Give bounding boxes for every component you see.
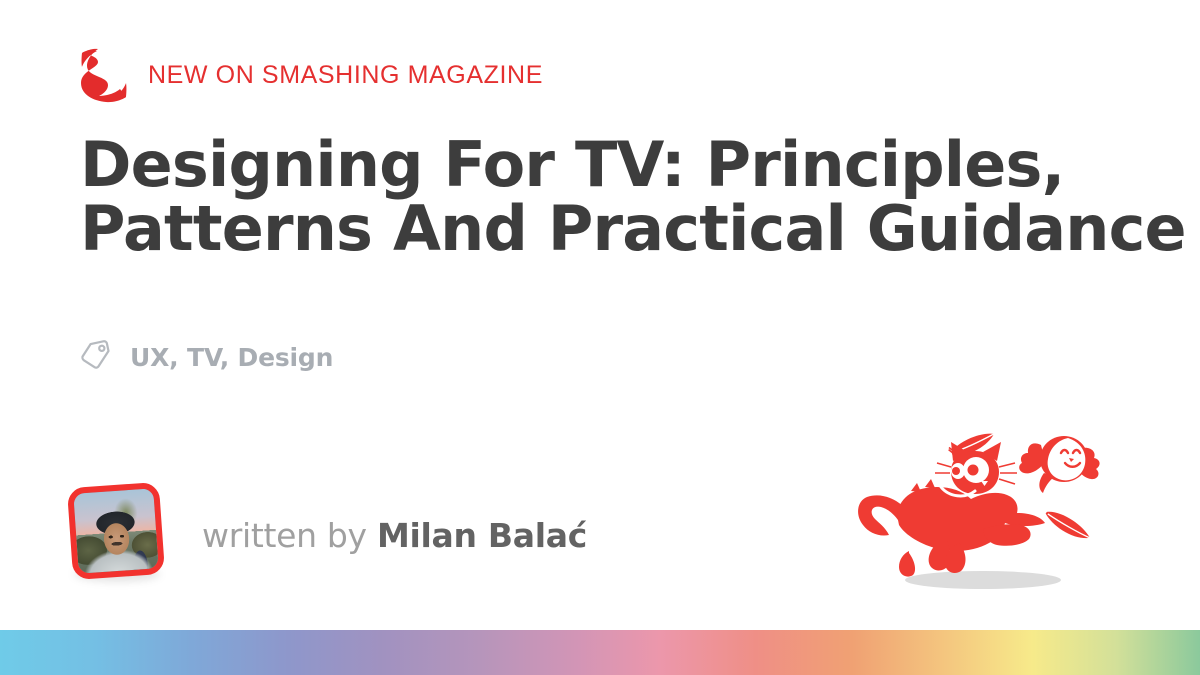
kicker-text: NEW ON SMASHING MAGAZINE (148, 63, 543, 88)
smashing-cat-illustration (855, 415, 1115, 605)
byline-prefix: written by (202, 516, 367, 555)
title-line-2: Patterns And Practical Guidance (80, 197, 1150, 261)
article-tags: UX, TV, Design (80, 336, 333, 378)
feather-bottom-icon (1044, 504, 1092, 546)
author-text: written by Milan Balać (202, 519, 587, 552)
author-byline: written by Milan Balać (62, 480, 587, 590)
mascot-svg (855, 415, 1115, 605)
title-line-1: Designing For TV: Principles, (80, 133, 1150, 197)
brand-kicker: NEW ON SMASHING MAGAZINE (78, 46, 543, 104)
avatar-frame (67, 482, 165, 580)
avatar-photo (73, 488, 158, 573)
running-cat-icon (858, 442, 1045, 577)
smashing-s-logo-icon (78, 47, 130, 103)
avatar (62, 480, 172, 590)
tags-text: UX, TV, Design (130, 345, 333, 370)
article-title: Designing For TV: Principles, Patterns A… (80, 133, 1150, 262)
tag-icon (80, 340, 114, 374)
article-promo-card: NEW ON SMASHING MAGAZINE Designing For T… (0, 0, 1200, 675)
author-name: Milan Balać (377, 516, 587, 555)
footer-gradient-bar (0, 630, 1200, 675)
ground-shadow-icon (905, 571, 1061, 589)
flying-bird-icon (1019, 436, 1099, 493)
